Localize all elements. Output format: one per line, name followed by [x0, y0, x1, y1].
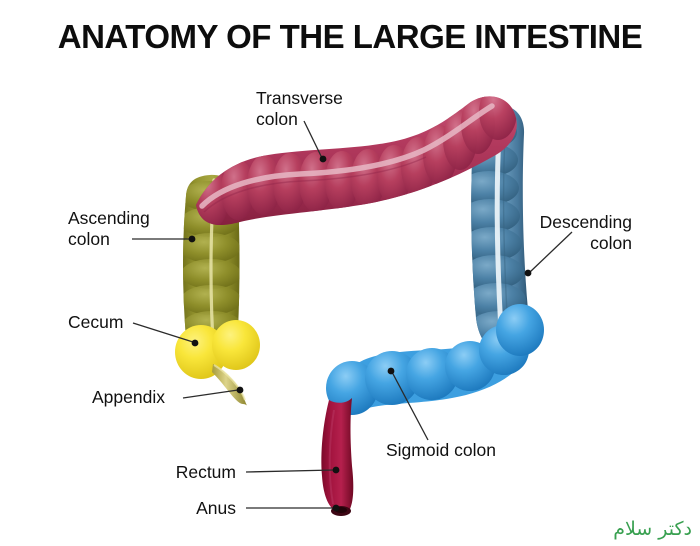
leader-rectum — [246, 470, 334, 472]
dot-anus — [333, 505, 340, 512]
illustration-page: ANATOMY OF THE LARGE INTESTINE — [0, 0, 700, 546]
appendix-segment — [212, 364, 247, 406]
dot-rectum — [333, 467, 340, 474]
dot-cecum — [192, 340, 199, 347]
label-rectum: Rectum — [90, 462, 236, 483]
watermark: دکتر سلام — [613, 518, 692, 540]
dot-descending-colon — [525, 270, 532, 277]
dot-appendix — [237, 387, 244, 394]
label-anus: Anus — [90, 498, 236, 519]
label-appendix: Appendix — [92, 387, 165, 408]
dot-transverse-colon — [320, 156, 327, 163]
sigmoid-colon-segment — [326, 303, 547, 415]
label-cecum: Cecum — [68, 312, 123, 333]
leader-appendix — [183, 390, 238, 398]
label-descending-colon: Descending colon — [472, 212, 632, 253]
label-sigmoid-colon: Sigmoid colon — [386, 440, 496, 461]
dot-ascending-colon — [189, 236, 196, 243]
rectum-segment — [321, 398, 353, 509]
cecum-lobe-right — [212, 320, 260, 370]
label-ascending-colon: Ascending colon — [68, 208, 150, 249]
label-transverse-colon: Transverse colon — [256, 88, 343, 129]
transverse-colon-segment — [195, 84, 517, 228]
dot-sigmoid-colon — [388, 368, 395, 375]
